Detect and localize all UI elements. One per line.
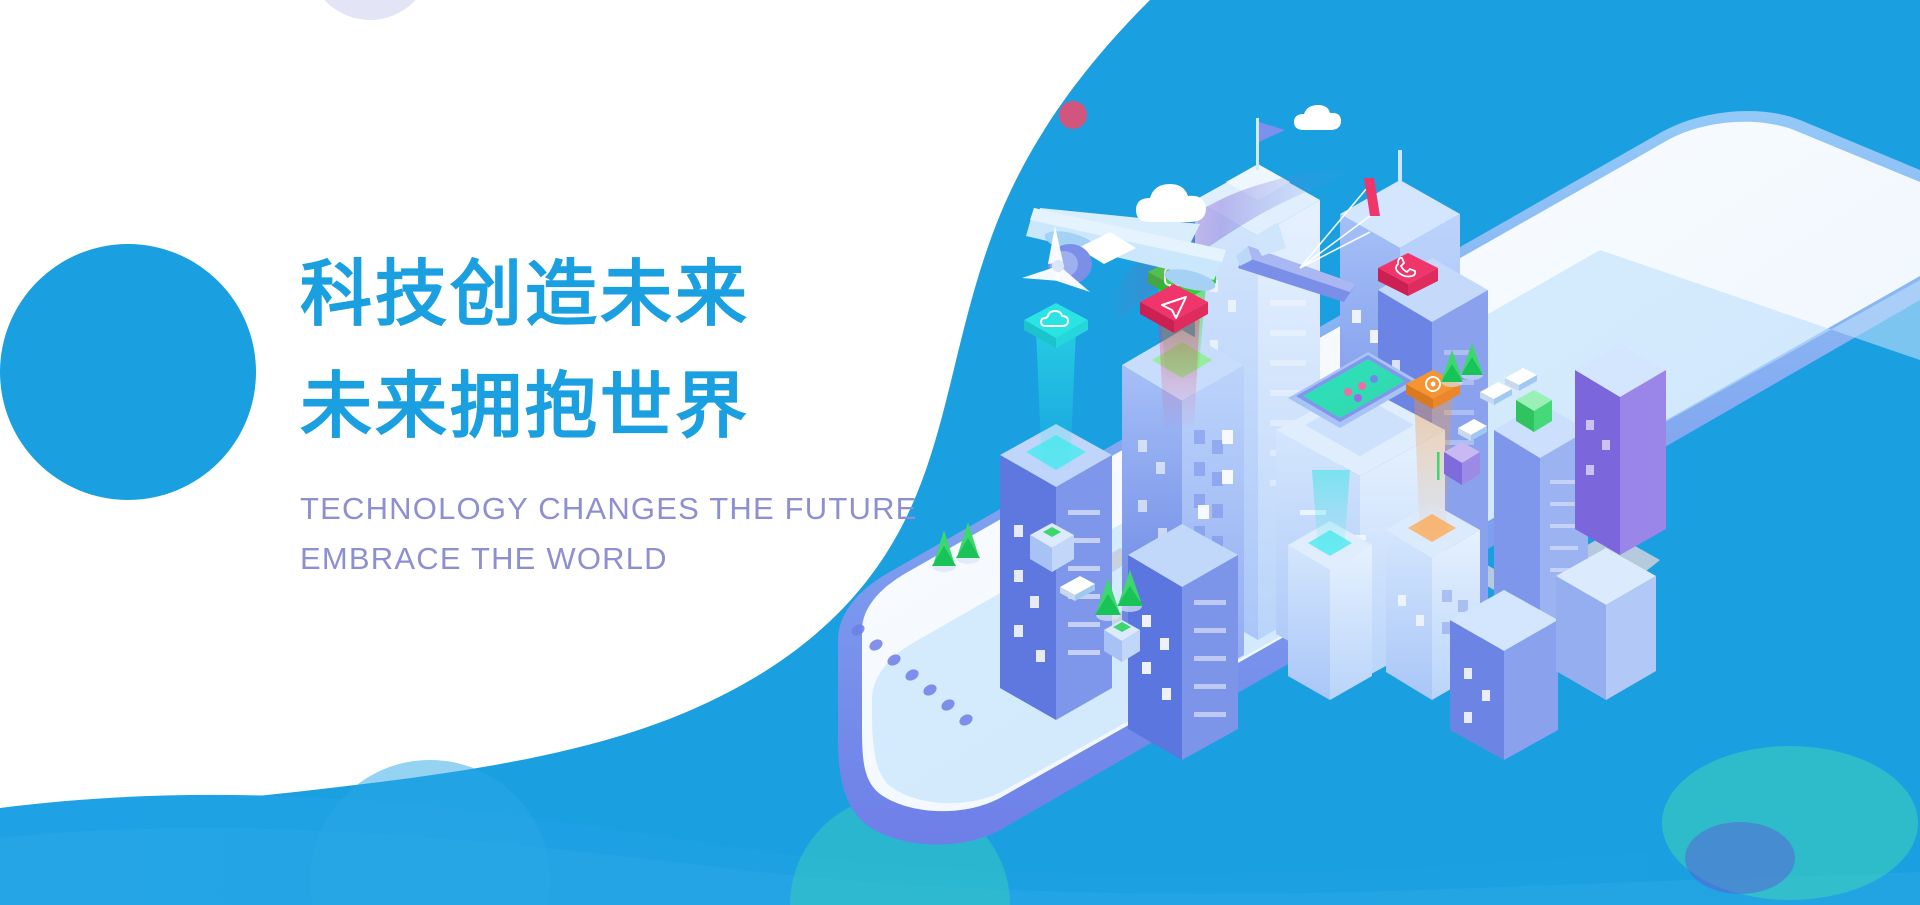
headline-line-1: 科技创造未来 <box>300 238 1020 350</box>
beam-cyan-2 <box>1312 470 1350 552</box>
subtitle-line-1: TECHNOLOGY CHANGES THE FUTURE <box>300 486 1020 532</box>
text-block: 科技创造未来 未来拥抱世界 TECHNOLOGY CHANGES THE FUT… <box>300 238 1020 586</box>
subtitle-line-2: EMBRACE THE WORLD <box>300 536 1020 582</box>
cloud-small <box>1294 105 1341 130</box>
building-front-dark-tower <box>1128 524 1238 760</box>
headline-line-2: 未来拥抱世界 <box>300 350 1020 462</box>
street-light <box>1437 452 1440 480</box>
cloud-large <box>1136 184 1206 222</box>
banner-root: 科技创造未来 未来拥抱世界 TECHNOLOGY CHANGES THE FUT… <box>0 0 1920 905</box>
subtitle-block: TECHNOLOGY CHANGES THE FUTURE EMBRACE TH… <box>300 486 1020 582</box>
beam-cyan <box>1036 330 1076 470</box>
badge-cyan-cloud-icon[interactable] <box>1024 303 1088 348</box>
